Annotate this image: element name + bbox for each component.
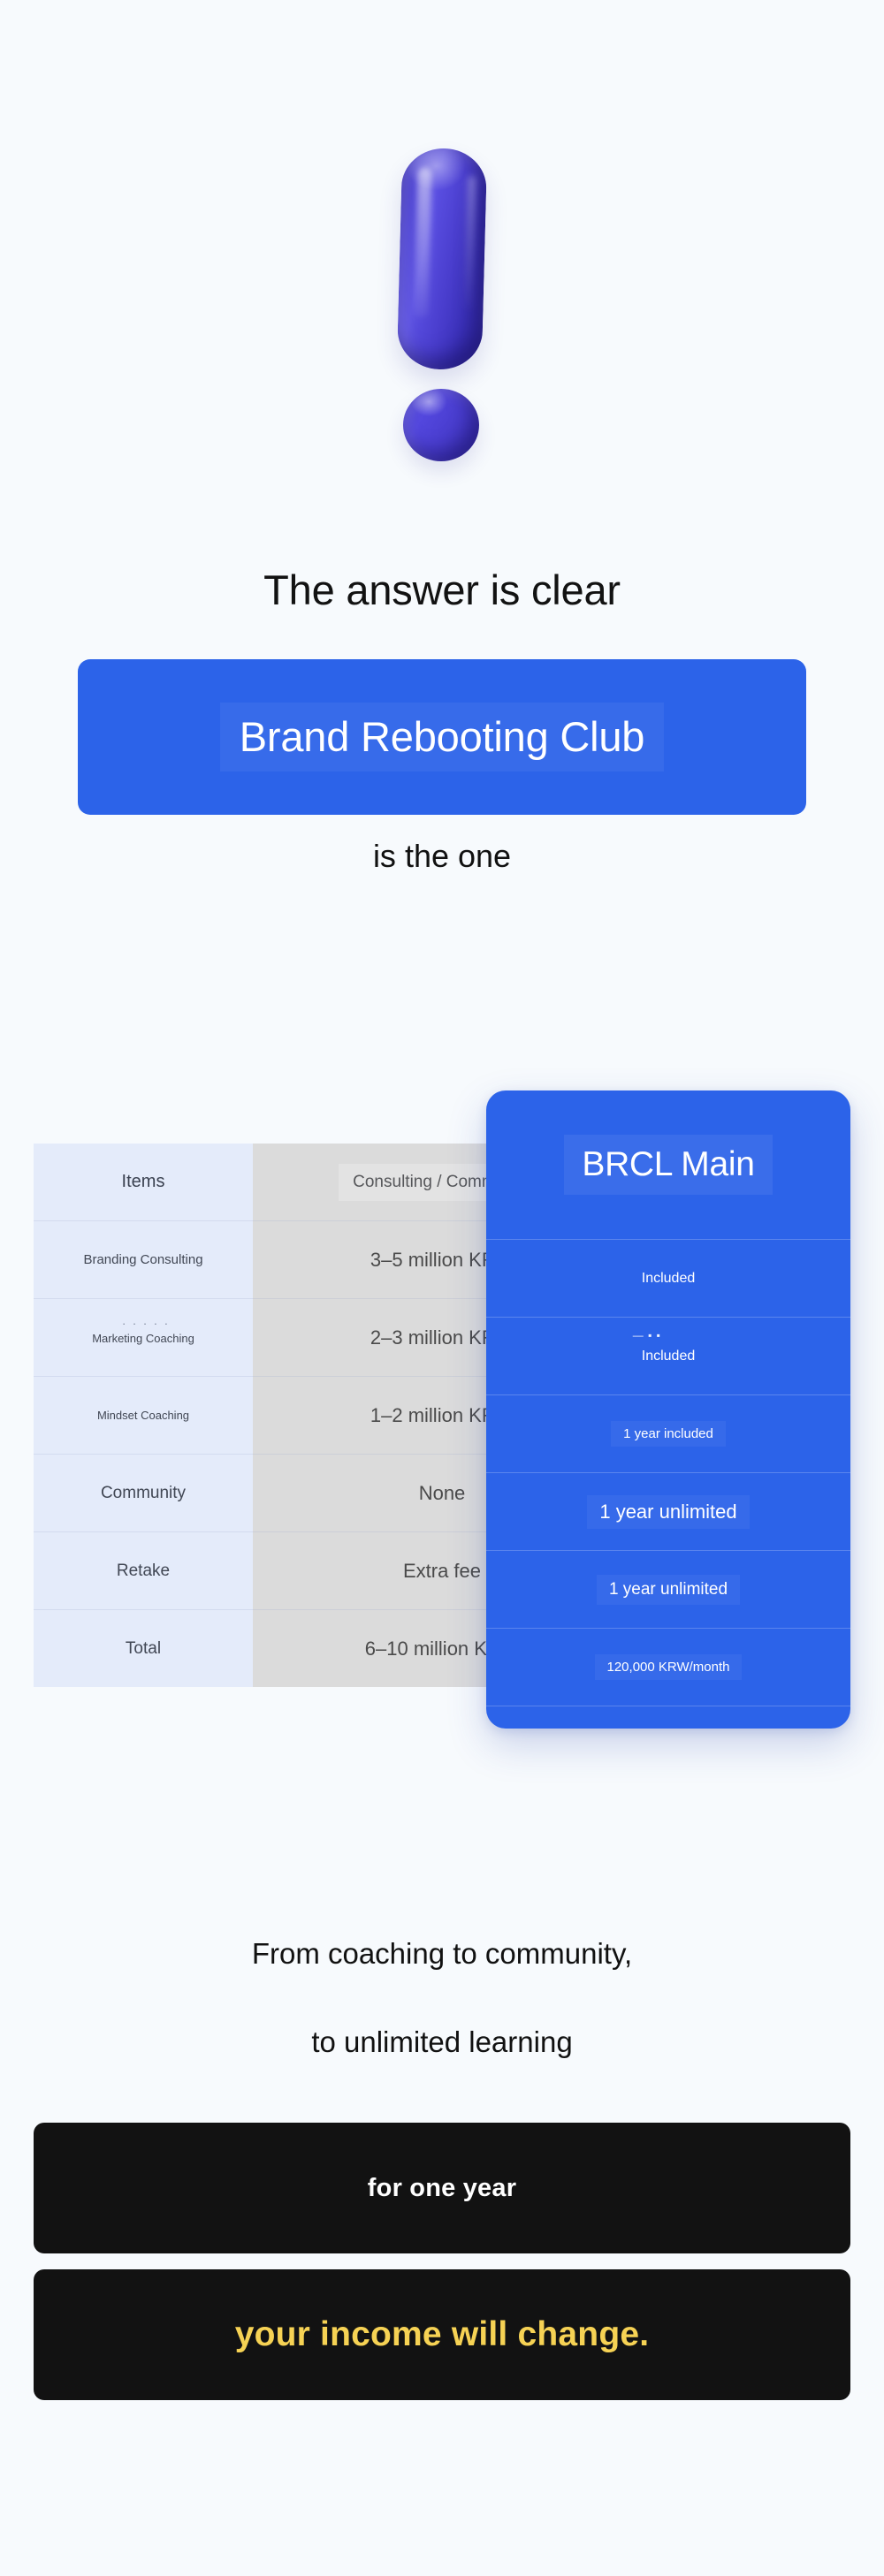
brand-rebooting-club-banner[interactable]: Brand Rebooting Club bbox=[78, 659, 806, 815]
row-item-label: Branding Consulting bbox=[34, 1221, 253, 1299]
row-item-label: Marketing Coaching bbox=[34, 1299, 253, 1377]
brcl-row-value: 1 year included bbox=[611, 1421, 726, 1447]
for-one-year-banner: for one year bbox=[34, 2123, 850, 2253]
closing-line-1: From coaching to community, bbox=[0, 1937, 884, 1971]
brcl-row: Included bbox=[486, 1240, 850, 1318]
for-one-year-label: for one year bbox=[368, 2174, 516, 2203]
income-change-label: your income will change. bbox=[235, 2315, 650, 2354]
row-item-label: Mindset Coaching bbox=[34, 1377, 253, 1455]
row-item-label: Total bbox=[34, 1610, 253, 1688]
column-header-items: Items bbox=[34, 1144, 253, 1221]
comparison-section: Items Consulting / Community Branding Co… bbox=[34, 1144, 850, 1691]
brcl-row: 1 year unlimited bbox=[486, 1473, 850, 1551]
brcl-row: 120,000 KRW/month bbox=[486, 1629, 850, 1706]
exclamation-dot-icon bbox=[403, 389, 479, 461]
brcl-row-value: 120,000 KRW/month bbox=[595, 1654, 743, 1680]
brcl-card-title: BRCL Main bbox=[564, 1135, 772, 1195]
brcl-row-value: 1 year unlimited bbox=[587, 1495, 749, 1529]
exclamation-bar-icon bbox=[397, 148, 488, 370]
row-item-label: Community bbox=[34, 1455, 253, 1532]
brcl-row: 1 year included bbox=[486, 1395, 850, 1473]
brcl-row: 1 year unlimited bbox=[486, 1551, 850, 1629]
hero-subline: is the one bbox=[0, 838, 884, 875]
brcl-main-highlight-card[interactable]: BRCL Main Included Included 1 year inclu… bbox=[486, 1090, 850, 1729]
brcl-card-header: BRCL Main bbox=[486, 1090, 850, 1240]
income-change-banner: your income will change. bbox=[34, 2269, 850, 2400]
hero-headline: The answer is clear bbox=[0, 566, 884, 614]
brcl-row-value: Included bbox=[629, 1343, 708, 1370]
brcl-card-footer-spacer bbox=[486, 1706, 850, 1729]
row-item-label: Retake bbox=[34, 1532, 253, 1610]
hero-section: The answer is clear Brand Rebooting Club… bbox=[0, 0, 884, 972]
closing-line-2: to unlimited learning bbox=[0, 2025, 884, 2059]
exclamation-mark-3d-icon bbox=[371, 148, 513, 502]
brcl-row-value: Included bbox=[629, 1265, 708, 1292]
brand-rebooting-club-label: Brand Rebooting Club bbox=[220, 703, 664, 771]
brcl-row-value: 1 year unlimited bbox=[597, 1575, 740, 1605]
brcl-row: Included bbox=[486, 1318, 850, 1395]
row-item-text: Marketing Coaching bbox=[92, 1332, 194, 1345]
